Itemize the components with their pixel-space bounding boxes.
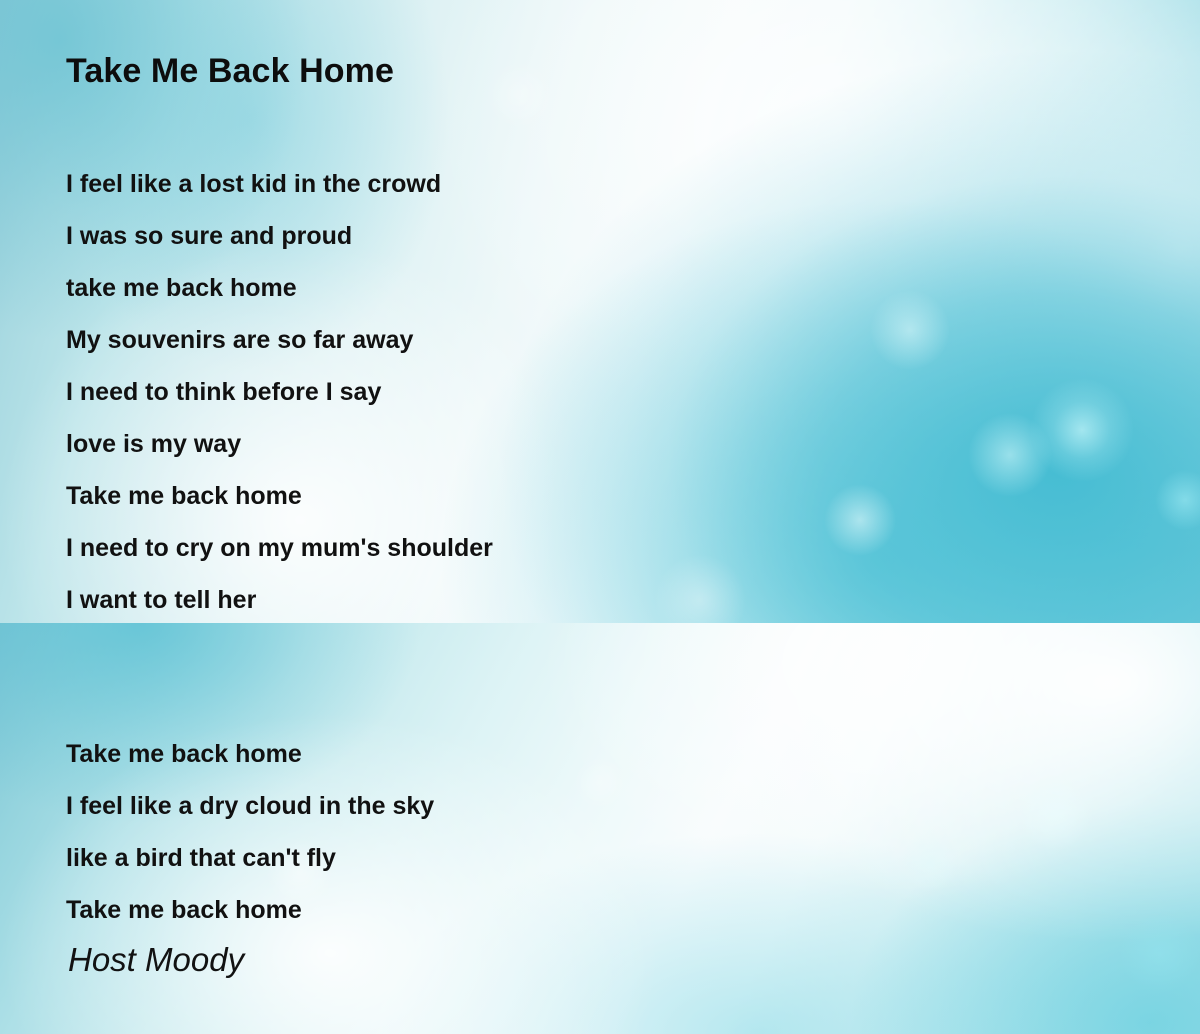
lower-panel-content: Take me back home I feel like a dry clou…	[0, 623, 1200, 1034]
poem-line: I need to think before I say	[66, 366, 1146, 418]
upper-panel-verse: I feel like a lost kid in the crowd I wa…	[66, 158, 1146, 623]
page-title: Take Me Back Home	[66, 52, 394, 91]
poem-line-blank	[66, 676, 1146, 728]
poem-line: take me back home	[66, 262, 1146, 314]
poem-line: love is my way	[66, 418, 1146, 470]
poem-line: like a bird that can't fly	[66, 832, 1146, 884]
poem-line: My souvenirs are so far away	[66, 314, 1146, 366]
upper-panel-content: Take Me Back Home I feel like a lost kid…	[0, 0, 1200, 623]
author-signature: Host Moody	[68, 941, 244, 979]
lower-panel-verse: Take me back home I feel like a dry clou…	[66, 676, 1146, 936]
poem-line: I need to cry on my mum's shoulder	[66, 522, 1146, 574]
poem-image: Take Me Back Home I feel like a lost kid…	[0, 0, 1200, 1034]
poem-line: I was so sure and proud	[66, 210, 1146, 262]
lower-panel: Take me back home I feel like a dry clou…	[0, 623, 1200, 1034]
poem-line: I feel like a lost kid in the crowd	[66, 158, 1146, 210]
poem-line: I want to tell her	[66, 574, 1146, 623]
poem-line: Take me back home	[66, 884, 1146, 936]
poem-line: I feel like a dry cloud in the sky	[66, 780, 1146, 832]
upper-panel: Take Me Back Home I feel like a lost kid…	[0, 0, 1200, 623]
poem-line: Take me back home	[66, 470, 1146, 522]
poem-line: Take me back home	[66, 728, 1146, 780]
